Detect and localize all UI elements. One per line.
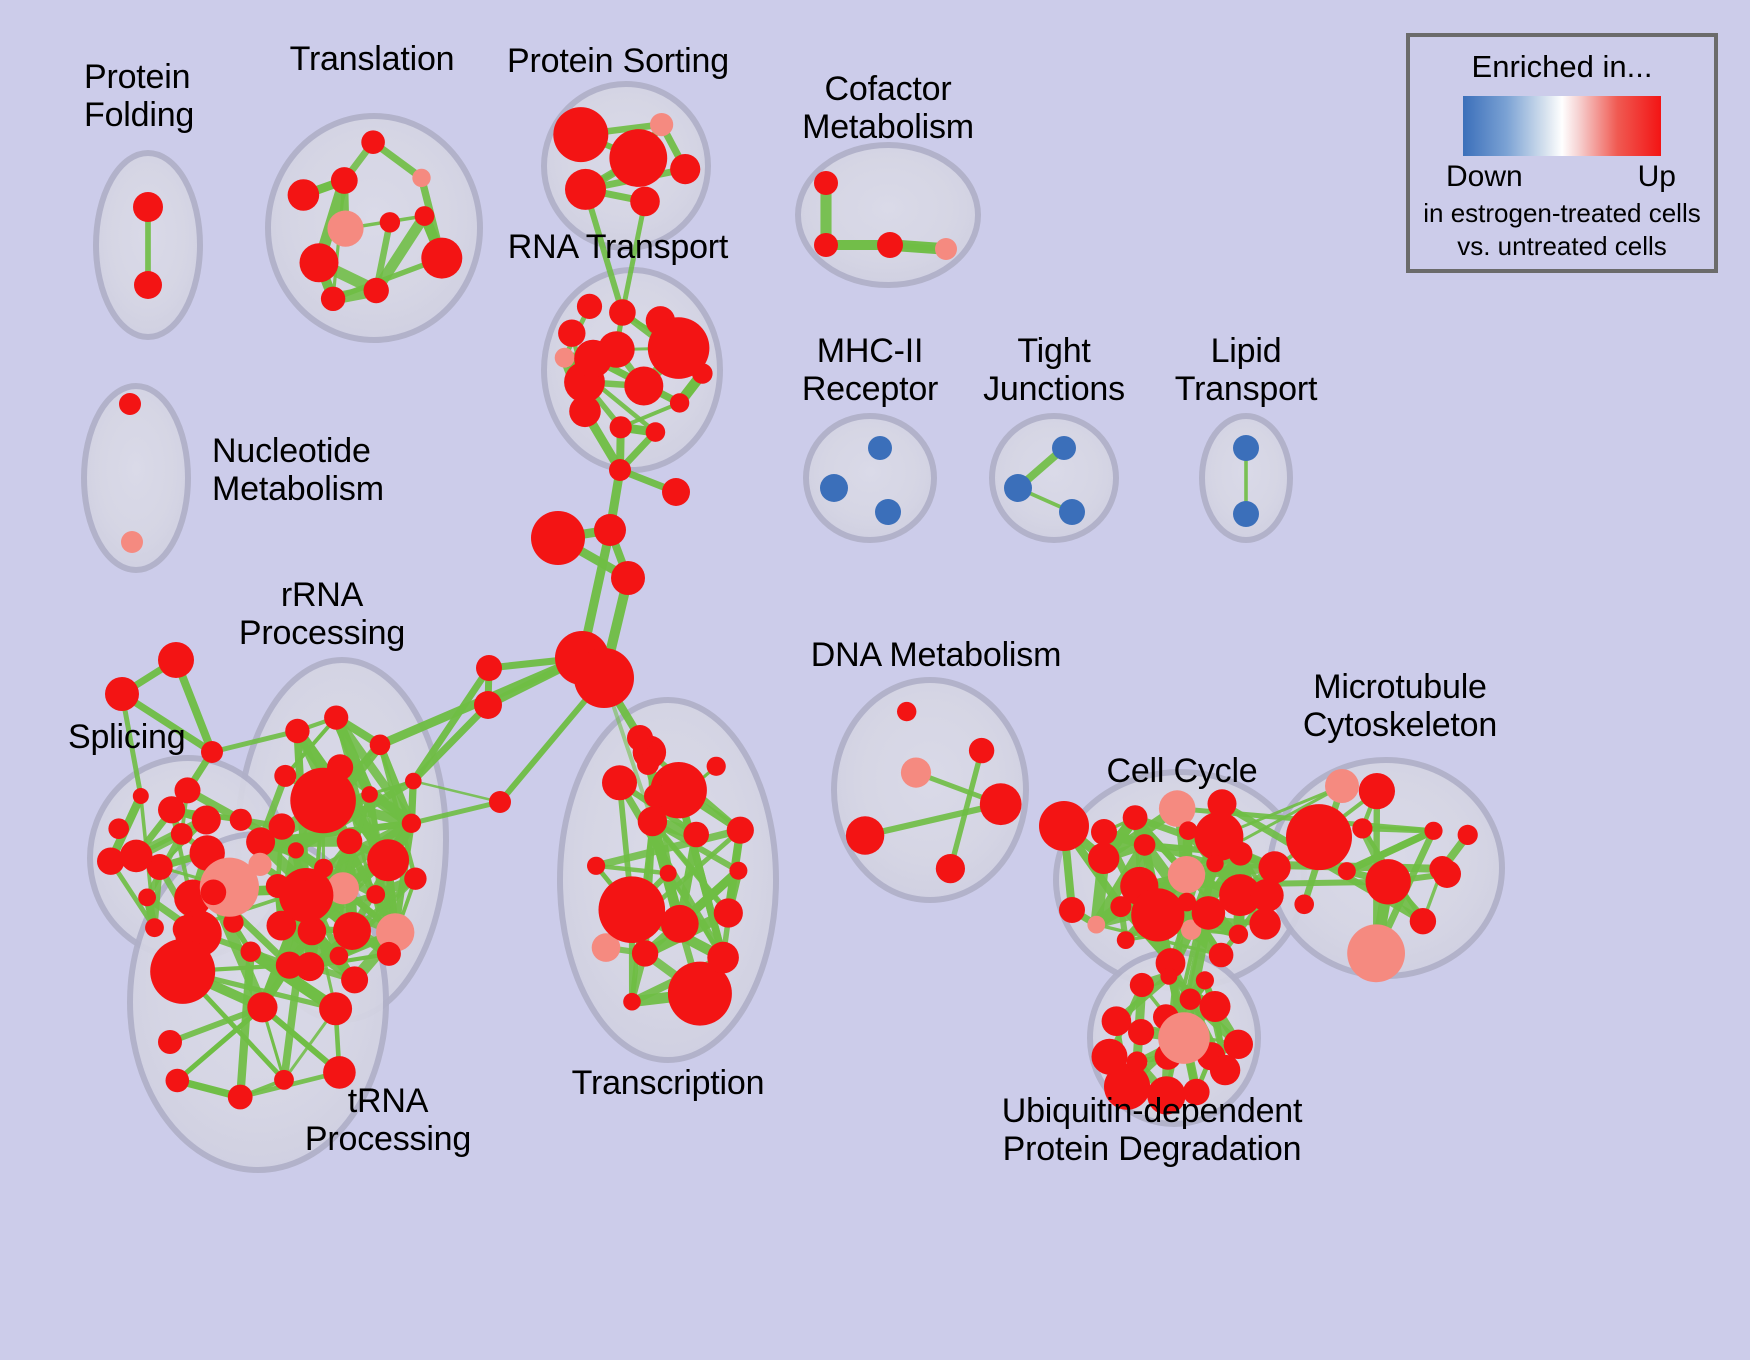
network-node — [1091, 819, 1117, 845]
cluster-label-line: Lipid — [1175, 332, 1317, 370]
network-node — [327, 211, 363, 247]
network-node — [366, 885, 385, 904]
network-node — [1233, 435, 1259, 461]
network-node — [1059, 499, 1085, 525]
cluster-label-transcription: Transcription — [572, 1064, 765, 1102]
cluster-label-splicing: Splicing — [68, 718, 185, 756]
cluster-label-trna-processing: tRNAProcessing — [305, 1082, 471, 1158]
network-node — [577, 294, 602, 319]
cluster-label-rna-transport: RNA Transport — [508, 228, 728, 266]
network-node — [1206, 855, 1223, 872]
cluster-label-cell-cycle: Cell Cycle — [1106, 752, 1257, 790]
cluster-label-line: Processing — [305, 1120, 471, 1158]
network-node — [660, 865, 677, 882]
cluster-label-line: Translation — [290, 40, 455, 78]
network-node — [134, 271, 162, 299]
network-node — [602, 765, 637, 800]
network-node — [868, 436, 892, 460]
network-node — [300, 243, 339, 282]
cluster-label-line: Metabolism — [802, 108, 974, 146]
cluster-label-protein-sorting: Protein Sorting — [507, 42, 729, 80]
network-node — [1130, 973, 1154, 997]
cluster-label-line: Transcription — [572, 1064, 765, 1102]
network-node — [1224, 1030, 1253, 1059]
network-node — [228, 1085, 253, 1110]
network-node — [707, 942, 739, 974]
network-node — [364, 278, 389, 303]
network-node — [1209, 943, 1234, 968]
network-node-cellcycle-out-lower — [1059, 897, 1085, 923]
network-node-microtubule-out-right — [1433, 860, 1461, 888]
cluster-label-microtubule-cytoskeleton: MicrotubuleCytoskeleton — [1303, 668, 1497, 744]
legend-color-bar — [1463, 96, 1661, 156]
network-node — [670, 393, 689, 412]
network-node-splicing-out-left — [105, 677, 139, 711]
network-node — [330, 947, 349, 966]
network-node — [1102, 1006, 1132, 1036]
cluster-label-line: Metabolism — [212, 470, 384, 508]
network-node — [609, 129, 667, 187]
network-node — [1088, 843, 1119, 874]
network-node — [1110, 896, 1131, 917]
network-node — [324, 706, 348, 730]
network-node-bridge-rna-right — [662, 478, 690, 506]
cluster-label-ubiquitin-degradation: Ubiquitin-dependentProtein Degradation — [1002, 1092, 1303, 1168]
network-node — [230, 809, 252, 831]
network-node — [1410, 908, 1436, 934]
cluster-label-nucleotide-metabolism: NucleotideMetabolism — [212, 432, 384, 508]
network-node — [814, 171, 838, 195]
cluster-label-line: Protein — [84, 58, 194, 96]
network-node — [1200, 991, 1231, 1022]
cluster-label-line: Nucleotide — [212, 432, 384, 470]
network-node — [1131, 888, 1184, 941]
network-node — [630, 187, 660, 217]
network-node — [670, 154, 700, 184]
cluster-label-line: Processing — [239, 614, 405, 652]
network-node-cellcycle-out-left — [1039, 801, 1089, 851]
cluster-label-mhc-ii-receptor: MHC-IIReceptor — [802, 332, 938, 408]
network-node — [405, 773, 422, 790]
cluster-label-line: Cytoskeleton — [1303, 706, 1497, 744]
network-node — [1178, 893, 1197, 912]
network-node — [247, 992, 277, 1022]
network-node — [609, 299, 636, 326]
network-node — [936, 854, 965, 883]
cluster-label-tight-junctions: TightJunctions — [983, 332, 1125, 408]
network-node — [380, 212, 400, 232]
network-node — [269, 813, 295, 839]
network-node-bridge-mid-2 — [611, 561, 645, 595]
network-node — [558, 320, 585, 347]
network-node — [1338, 862, 1356, 880]
network-node — [729, 862, 747, 880]
network-node-trna-out-left — [158, 1030, 182, 1054]
network-node — [361, 130, 385, 154]
network-node — [276, 952, 303, 979]
cluster-label-line: Transport — [1175, 370, 1317, 408]
network-node — [319, 992, 352, 1025]
legend-panel: Enriched in... Down Up in estrogen-treat… — [1406, 33, 1718, 273]
legend-up-label: Up — [1638, 160, 1676, 194]
network-node — [119, 393, 141, 415]
network-node — [288, 179, 320, 211]
network-node — [820, 474, 848, 502]
network-node — [361, 786, 378, 803]
network-node — [412, 169, 430, 187]
network-node — [1179, 821, 1198, 840]
network-node — [980, 783, 1022, 825]
legend-caption-line-2: vs. untreated cells — [1410, 231, 1714, 262]
network-node — [555, 348, 575, 368]
network-node-bridge-down-1 — [627, 725, 653, 751]
network-node — [314, 859, 333, 878]
network-node — [1127, 1051, 1148, 1072]
network-node — [138, 889, 156, 907]
network-node — [1117, 931, 1135, 949]
cluster-label-line: Splicing — [68, 718, 185, 756]
network-node — [624, 367, 663, 406]
network-node — [133, 192, 163, 222]
cluster-label-line: MHC-II — [802, 332, 938, 370]
network-node — [1004, 474, 1032, 502]
network-node — [1251, 879, 1284, 912]
network-node — [192, 806, 221, 835]
network-node — [846, 816, 884, 854]
network-node — [1366, 859, 1411, 904]
network-node — [1424, 822, 1442, 840]
network-node — [327, 754, 353, 780]
network-node-bridge-hub-b — [574, 648, 634, 708]
network-node — [341, 966, 368, 993]
network-node — [1134, 834, 1156, 856]
network-node — [370, 735, 391, 756]
network-node — [587, 857, 605, 875]
network-node — [1196, 971, 1214, 989]
cluster-label-protein-folding: ProteinFolding — [84, 58, 194, 134]
network-node — [901, 758, 931, 788]
network-node — [288, 842, 304, 858]
network-node — [897, 702, 916, 721]
network-node — [421, 238, 462, 279]
network-node — [574, 340, 612, 378]
network-node-splicing-out-mid — [201, 741, 223, 763]
cluster-label-line: Junctions — [983, 370, 1125, 408]
network-node — [1210, 1055, 1240, 1085]
cluster-label-line: Ubiquitin-dependent — [1002, 1092, 1303, 1130]
network-node — [1180, 989, 1201, 1010]
network-node — [1092, 1039, 1128, 1075]
network-node — [599, 876, 666, 943]
network-node — [248, 853, 271, 876]
network-node — [1159, 790, 1196, 827]
network-node — [201, 880, 227, 906]
cluster-label-line: Receptor — [802, 370, 938, 408]
network-node — [565, 169, 606, 210]
network-node — [935, 238, 957, 260]
network-node-bridge-left-a — [476, 655, 502, 681]
network-node-bridge-rna-hub — [609, 459, 631, 481]
enrichment-map-figure: ProteinFoldingTranslationProtein Sorting… — [0, 0, 1750, 1360]
network-node — [1347, 924, 1405, 982]
network-node — [646, 422, 666, 442]
network-node-bridge-large-left — [531, 511, 585, 565]
network-node — [623, 993, 641, 1011]
network-node — [337, 829, 363, 855]
network-node — [1359, 773, 1395, 809]
network-node — [875, 499, 901, 525]
network-node-bridge-mid-1 — [594, 514, 626, 546]
network-node — [648, 317, 710, 379]
cluster-label-line: DNA Metabolism — [811, 636, 1061, 674]
cluster-label-dna-metabolism: DNA Metabolism — [811, 636, 1061, 674]
legend-title: Enriched in... — [1410, 49, 1714, 85]
legend-caption-line-1: in estrogen-treated cells — [1410, 198, 1714, 229]
network-node — [1286, 804, 1352, 870]
network-node — [1259, 851, 1291, 883]
network-node — [173, 915, 201, 943]
network-node — [707, 757, 726, 776]
cluster-label-lipid-transport: LipidTransport — [1175, 332, 1317, 408]
cluster-label-line: Cell Cycle — [1106, 752, 1257, 790]
network-node — [377, 942, 401, 966]
network-node — [274, 765, 296, 787]
network-node — [1160, 968, 1177, 985]
network-node — [158, 796, 185, 823]
network-node — [1128, 1019, 1154, 1045]
network-node-splicing-out-top — [158, 642, 194, 678]
network-node — [120, 840, 153, 873]
cluster-label-translation: Translation — [290, 40, 455, 78]
network-node — [1352, 818, 1372, 838]
network-node — [1325, 769, 1359, 803]
network-node — [274, 1070, 294, 1090]
network-node — [1229, 842, 1253, 866]
network-node — [166, 1069, 190, 1093]
network-node — [367, 839, 409, 881]
network-node — [1052, 436, 1076, 460]
network-node — [150, 939, 215, 1004]
network-node — [299, 880, 317, 898]
network-node — [661, 905, 699, 943]
network-node — [1123, 805, 1148, 830]
network-node — [402, 814, 421, 833]
network-node — [97, 848, 124, 875]
network-node — [121, 531, 143, 553]
cluster-label-line: Protein Degradation — [1002, 1130, 1303, 1168]
network-node-bridge-down-3 — [644, 784, 668, 808]
network-node — [553, 107, 608, 162]
cluster-label-line: tRNA — [305, 1082, 471, 1120]
network-node — [877, 232, 903, 258]
network-node — [108, 818, 129, 839]
cluster-label-line: rRNA — [239, 576, 405, 614]
cluster-label-line: Tight — [983, 332, 1125, 370]
network-node — [1229, 925, 1248, 944]
network-node — [650, 113, 673, 136]
network-node — [1233, 501, 1259, 527]
network-node — [714, 898, 743, 927]
cluster-label-line: RNA Transport — [508, 228, 728, 266]
network-node — [1294, 895, 1314, 915]
network-node — [241, 942, 261, 962]
legend-down-label: Down — [1446, 160, 1523, 194]
network-node — [404, 868, 426, 890]
cluster-label-line: Cofactor — [802, 70, 974, 108]
network-node — [145, 918, 164, 937]
network-node-bridge-left-c — [489, 791, 511, 813]
network-node — [171, 823, 193, 845]
network-node — [1087, 916, 1105, 934]
network-node — [1249, 908, 1280, 939]
network-node — [814, 233, 838, 257]
network-node — [610, 416, 632, 438]
network-node — [1158, 1012, 1210, 1064]
network-node — [727, 817, 754, 844]
network-node — [285, 719, 309, 743]
network-node — [1208, 789, 1237, 818]
network-node — [331, 167, 358, 194]
network-node — [333, 912, 371, 950]
network-node — [969, 738, 994, 763]
network-node-bridge-left-b — [474, 691, 502, 719]
cluster-label-line: Protein Sorting — [507, 42, 729, 80]
network-node — [321, 287, 345, 311]
network-node — [415, 206, 435, 226]
network-node — [1192, 896, 1226, 930]
cluster-label-cofactor-metabolism: CofactorMetabolism — [802, 70, 974, 146]
network-node — [683, 822, 709, 848]
cluster-label-rrna-processing: rRNAProcessing — [239, 576, 405, 652]
network-node — [1168, 856, 1205, 893]
network-node — [1458, 825, 1478, 845]
network-node — [632, 940, 658, 966]
network-node-bridge-down-2 — [637, 753, 659, 775]
cluster-label-line: Folding — [84, 96, 194, 134]
network-node — [133, 788, 149, 804]
cluster-label-line: Microtubule — [1303, 668, 1497, 706]
